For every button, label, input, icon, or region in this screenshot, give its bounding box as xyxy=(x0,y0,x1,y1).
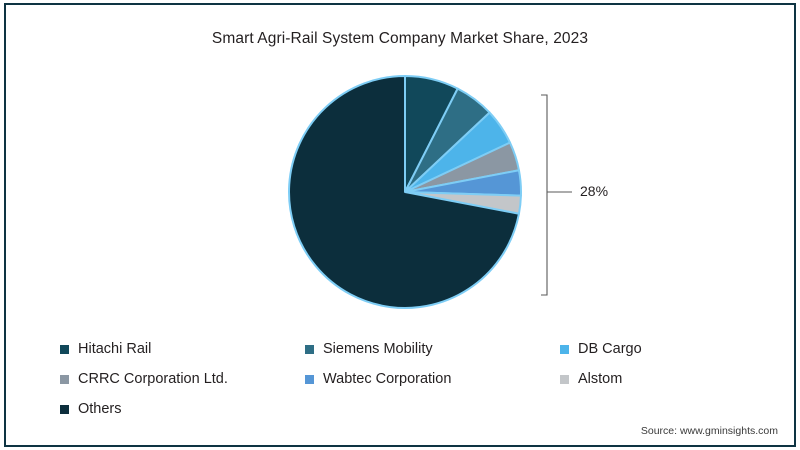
bracket-path xyxy=(541,95,547,295)
legend-item-label: Hitachi Rail xyxy=(78,342,151,357)
source-note: Source: www.gminsights.com xyxy=(641,425,778,437)
legend-item-hitachi-rail[interactable]: Hitachi Rail xyxy=(60,342,305,357)
legend-item-others[interactable]: Others xyxy=(60,402,305,417)
legend-item-siemens-mobility[interactable]: Siemens Mobility xyxy=(305,342,560,357)
chart-page: Smart Agri-Rail System Company Market Sh… xyxy=(0,0,800,450)
callout-value-label: 28% xyxy=(580,183,608,199)
pie-slice-group xyxy=(289,76,521,308)
legend-item-label: Wabtec Corporation xyxy=(323,372,451,387)
legend-item-label: Alstom xyxy=(578,372,622,387)
legend-row: CRRC Corporation Ltd. Wabtec Corporation… xyxy=(60,364,740,394)
legend-swatch-icon xyxy=(560,345,569,354)
legend: Hitachi Rail Siemens Mobility DB Cargo C… xyxy=(60,334,740,424)
legend-swatch-icon xyxy=(60,405,69,414)
legend-item-label: DB Cargo xyxy=(578,342,642,357)
legend-swatch-icon xyxy=(60,375,69,384)
legend-row: Others xyxy=(60,394,740,424)
legend-swatch-icon xyxy=(560,375,569,384)
legend-swatch-icon xyxy=(305,375,314,384)
legend-item-label: Siemens Mobility xyxy=(323,342,433,357)
legend-item-label: CRRC Corporation Ltd. xyxy=(78,372,228,387)
legend-item-wabtec-corporation[interactable]: Wabtec Corporation xyxy=(305,372,560,387)
legend-swatch-icon xyxy=(305,345,314,354)
legend-item-db-cargo[interactable]: DB Cargo xyxy=(560,342,740,357)
legend-item-crrc-corporation-ltd[interactable]: CRRC Corporation Ltd. xyxy=(60,372,305,387)
legend-swatch-icon xyxy=(60,345,69,354)
legend-item-alstom[interactable]: Alstom xyxy=(560,372,740,387)
callout-bracket xyxy=(541,95,572,295)
legend-row: Hitachi Rail Siemens Mobility DB Cargo xyxy=(60,334,740,364)
legend-item-label: Others xyxy=(78,402,122,417)
